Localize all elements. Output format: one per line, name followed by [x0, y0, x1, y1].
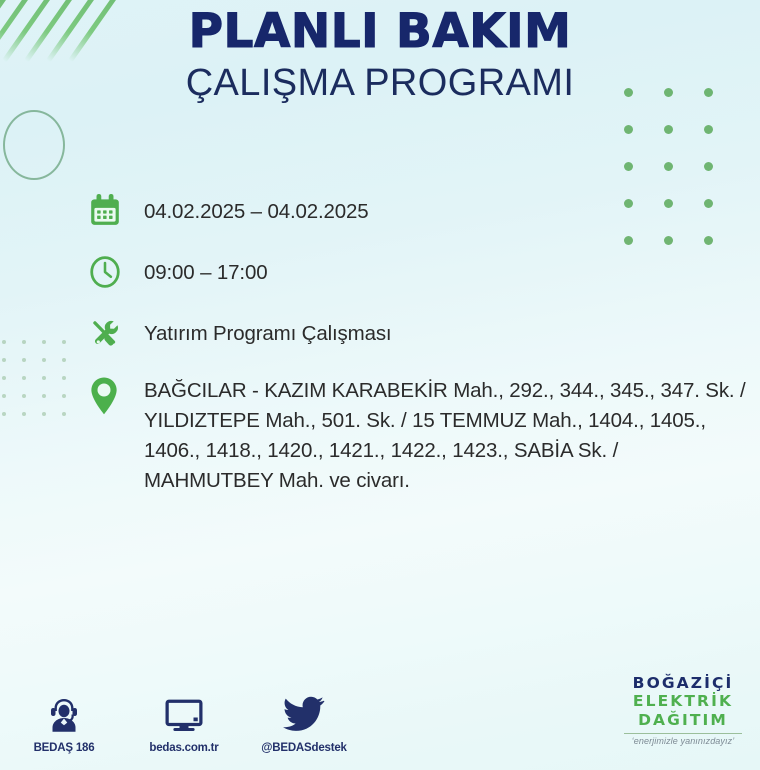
logo-line-dagitim: DAĞITIM [618, 713, 748, 729]
planned-maintenance-poster: PLANLI BAKIM ÇALIŞMA PROGRAMI [0, 0, 760, 770]
contact-phone-label: BEDAŞ 186 [18, 742, 110, 754]
detail-row-time: 09:00 – 17:00 [88, 251, 748, 293]
location-pin-icon [88, 373, 144, 417]
logo-line-bogazici: BOĞAZİÇİ [618, 676, 748, 692]
tools-icon [88, 312, 144, 354]
circle-outline-decoration [3, 110, 65, 180]
detail-row-address: BAĞCILAR - KAZIM KARABEKİR Mah., 292., 3… [88, 373, 748, 497]
contact-website-label: bedas.com.tr [138, 742, 230, 754]
bedas-logo: BOĞAZİÇİ ELEKTRİK DAĞITIM ‘enerjimizle y… [618, 676, 748, 747]
page-subtitle: ÇALIŞMA PROGRAMI [0, 63, 760, 105]
dot-grid-left-decoration [2, 340, 82, 430]
calendar-icon [88, 190, 144, 232]
detail-worktype-text: Yatırım Programı Çalışması [144, 312, 391, 349]
contact-twitter-label: @BEDASdestek [258, 742, 350, 754]
twitter-bird-icon [258, 691, 350, 735]
contact-channels: BEDAŞ 186 bedas.com.tr [18, 691, 350, 754]
logo-tagline: ‘enerjimizle yanınızdayız’ [618, 737, 748, 746]
detail-time-text: 09:00 – 17:00 [144, 251, 267, 288]
detail-date-text: 04.02.2025 – 04.02.2025 [144, 190, 369, 227]
contact-website[interactable]: bedas.com.tr [138, 691, 230, 754]
contact-phone[interactable]: BEDAŞ 186 [18, 691, 110, 754]
logo-line-elektrik: ELEKTRİK [618, 694, 748, 710]
maintenance-details: 04.02.2025 – 04.02.2025 09:00 – 17:00 [88, 190, 748, 516]
logo-divider [624, 733, 742, 734]
detail-address-text: BAĞCILAR - KAZIM KARABEKİR Mah., 292., 3… [144, 373, 748, 497]
detail-row-worktype: Yatırım Programı Çalışması [88, 312, 748, 354]
poster-footer: BEDAŞ 186 bedas.com.tr [0, 660, 760, 760]
page-title: PLANLI BAKIM [0, 8, 760, 57]
detail-row-date: 04.02.2025 – 04.02.2025 [88, 190, 748, 232]
contact-twitter[interactable]: @BEDASdestek [258, 691, 350, 754]
clock-icon [88, 251, 144, 293]
call-center-agent-icon [18, 691, 110, 735]
monitor-icon [138, 691, 230, 735]
poster-header: PLANLI BAKIM ÇALIŞMA PROGRAMI [0, 8, 760, 105]
